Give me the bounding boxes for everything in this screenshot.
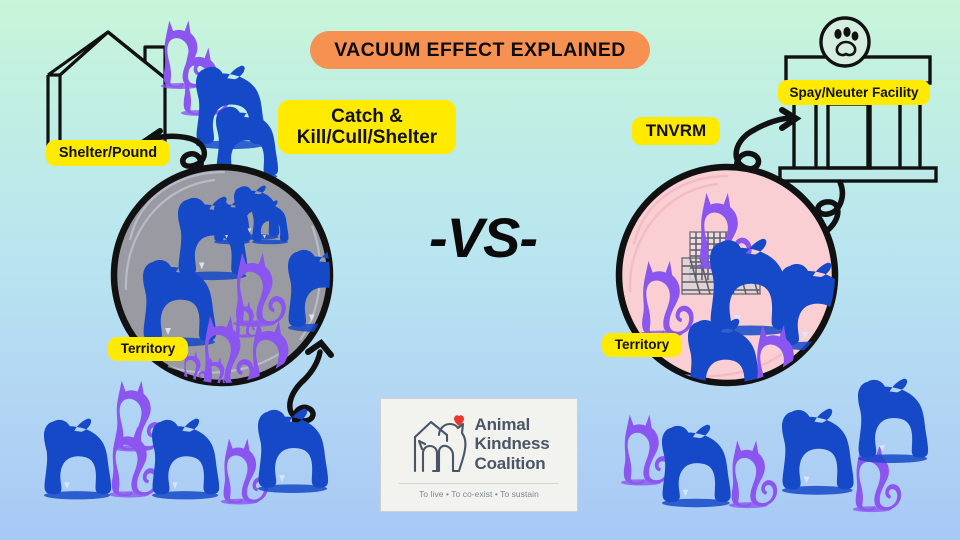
right-outside-animals bbox=[621, 379, 928, 512]
page-title: VACUUM EFFECT EXPLAINED bbox=[310, 31, 650, 69]
label-territory-left: Territory bbox=[108, 337, 188, 361]
catch-kill-line-1: Catch & bbox=[331, 106, 403, 127]
versus-divider: -VS- bbox=[418, 205, 548, 270]
logo-wordmark: Animal Kindness Coalition bbox=[475, 415, 550, 472]
dog-cat-house-logo-icon bbox=[409, 411, 471, 477]
label-territory-right: Territory bbox=[602, 333, 682, 357]
label-spay-neuter-facility: Spay/Neuter Facility bbox=[778, 80, 930, 105]
logo-tagline: To live • To co-exist • To sustain bbox=[419, 489, 539, 499]
label-shelter-pound: Shelter/Pound bbox=[46, 140, 170, 166]
label-catch-and-kill: Catch & Kill/Cull/Shelter bbox=[278, 100, 456, 154]
organization-logo-card: Animal Kindness Coalition To live • To c… bbox=[380, 398, 578, 512]
left-animal-stack bbox=[161, 20, 278, 181]
house-outline-icon bbox=[48, 32, 165, 150]
label-tnvrm: TNVRM bbox=[632, 117, 720, 145]
paw-print-icon bbox=[821, 18, 869, 66]
logo-line-2: Kindness bbox=[475, 434, 550, 453]
logo-divider bbox=[399, 483, 559, 484]
catch-kill-line-2: Kill/Cull/Shelter bbox=[297, 127, 437, 148]
logo-line-3: Coalition bbox=[475, 454, 550, 473]
logo-line-1: Animal bbox=[475, 415, 550, 434]
left-outside-animals bbox=[44, 380, 328, 505]
logo-row: Animal Kindness Coalition bbox=[409, 407, 550, 481]
